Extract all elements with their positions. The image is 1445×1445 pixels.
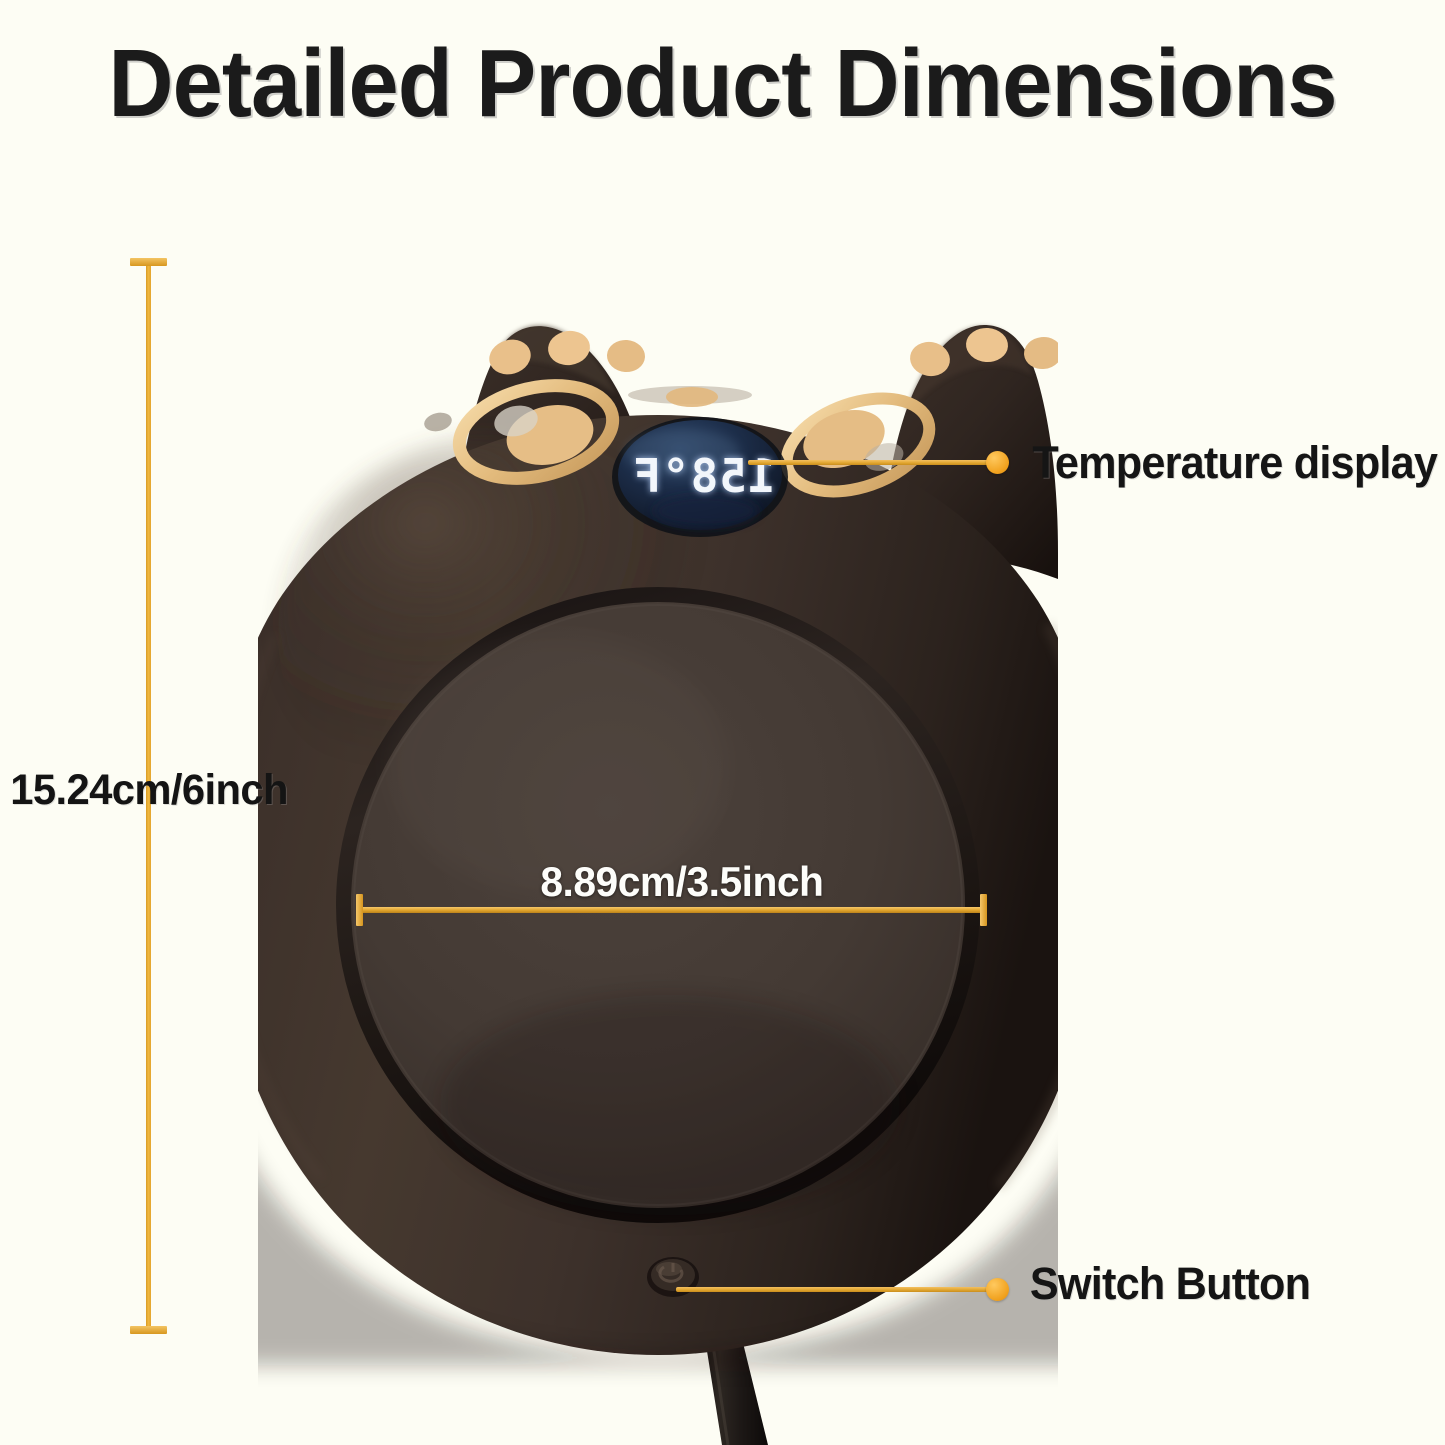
product-illustration [258,205,1058,1445]
temperature-display-callout-label: Temperature display [1032,437,1437,489]
infographic-canvas: Detailed Product Dimensions [0,0,1445,1445]
nose-marking [628,386,752,407]
switch-button [647,1257,699,1297]
temperature-readout: 158°F [641,448,767,504]
height-dimension-cap-top [130,258,167,266]
height-dimension-line [146,262,151,1332]
height-dimension-label: 15.24cm/6inch [10,766,288,815]
height-dimension-cap-bottom [130,1326,167,1334]
heating-plate [336,587,980,1223]
switch-button-callout-label: Switch Button [1030,1258,1310,1310]
page-title: Detailed Product Dimensions [43,34,1401,135]
